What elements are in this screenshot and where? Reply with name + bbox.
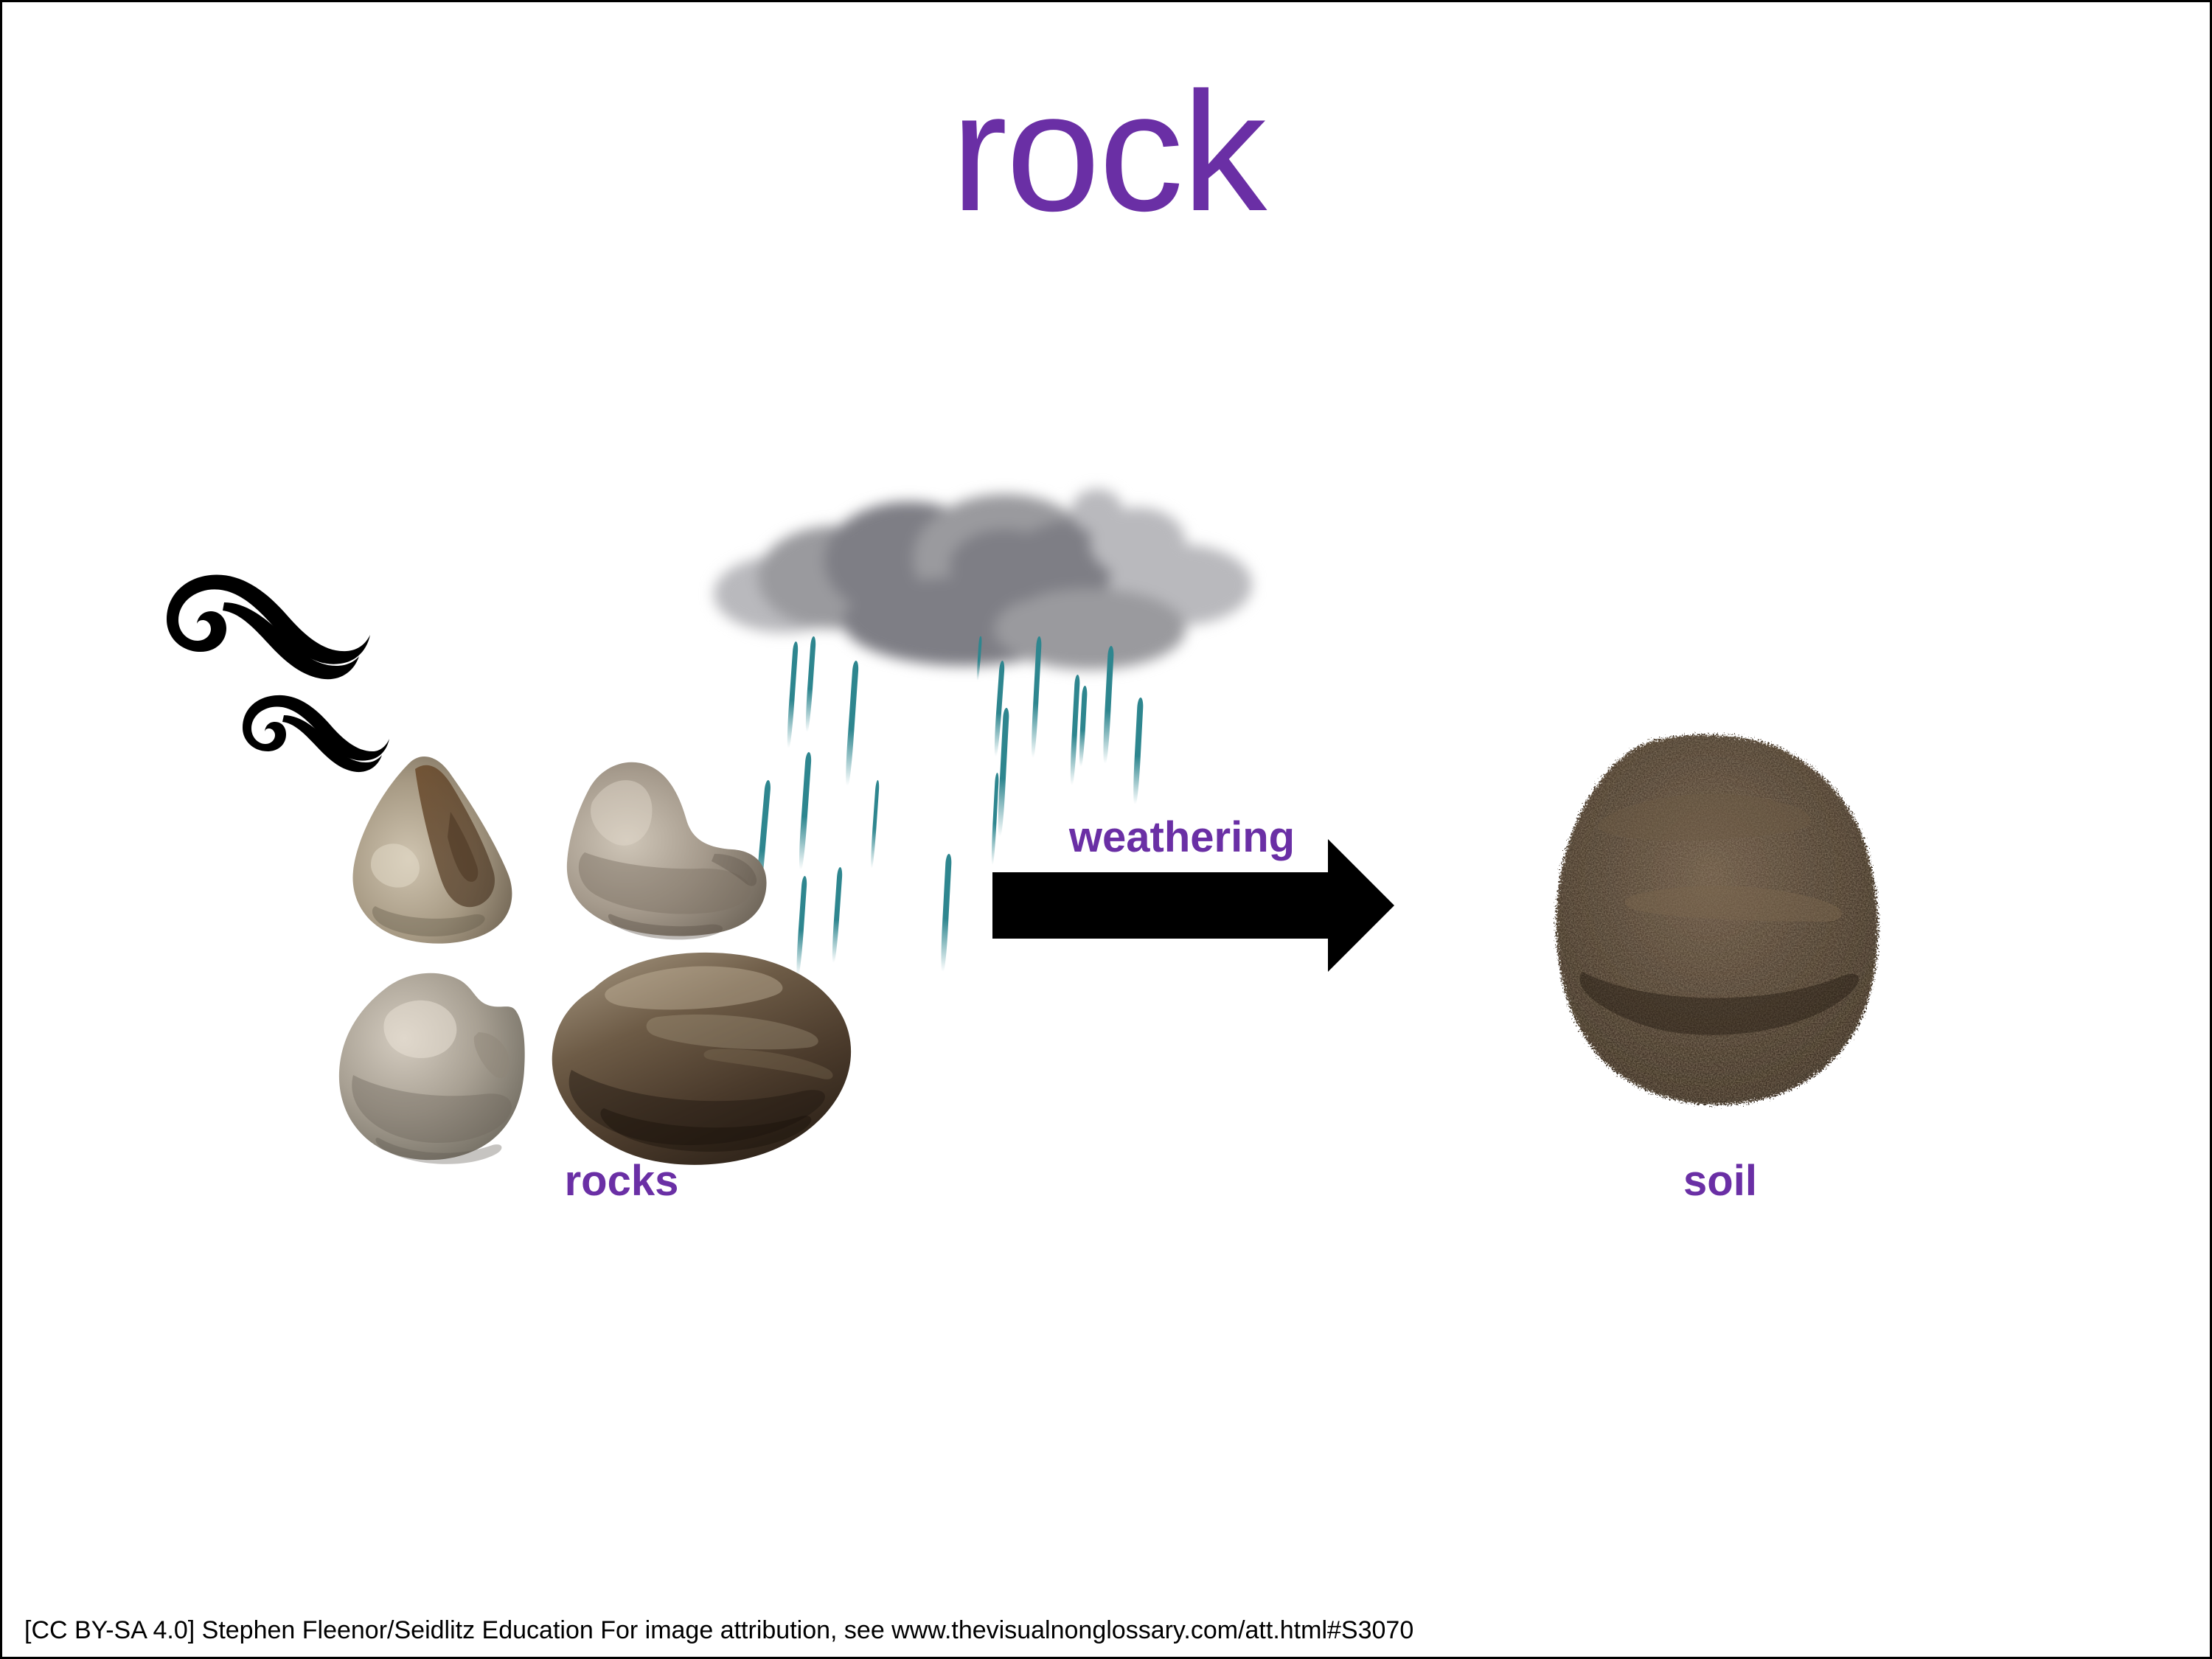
rain-drop — [1030, 636, 1042, 758]
wind-swirl-large-icon — [161, 570, 375, 681]
weathering-arrow — [992, 835, 1405, 983]
attribution-text: [CC BY-SA 4.0] Stephen Fleenor/Seidlitz … — [24, 1616, 1413, 1645]
rock-teardrop-brown — [327, 754, 548, 950]
slide-canvas: rock — [0, 0, 2212, 1659]
rain-drop — [1069, 675, 1080, 785]
rain-drop — [976, 636, 982, 681]
rock-oval-dark — [533, 946, 858, 1175]
rain-drop — [1102, 646, 1114, 764]
soil-label: soil — [1602, 1160, 1838, 1203]
rocks-group — [327, 754, 998, 1182]
rock-round-gray — [327, 964, 548, 1178]
rain-drop — [786, 641, 799, 748]
rock-angular-gray — [540, 758, 776, 946]
soil-mound-icon — [1540, 728, 1901, 1130]
rain-drop — [1078, 686, 1088, 767]
soil-group — [1540, 728, 1901, 1130]
rocks-label: rocks — [504, 1160, 740, 1203]
page-title: rock — [2, 67, 2212, 237]
rain-drop — [804, 636, 816, 732]
rain-drop — [1132, 698, 1144, 804]
